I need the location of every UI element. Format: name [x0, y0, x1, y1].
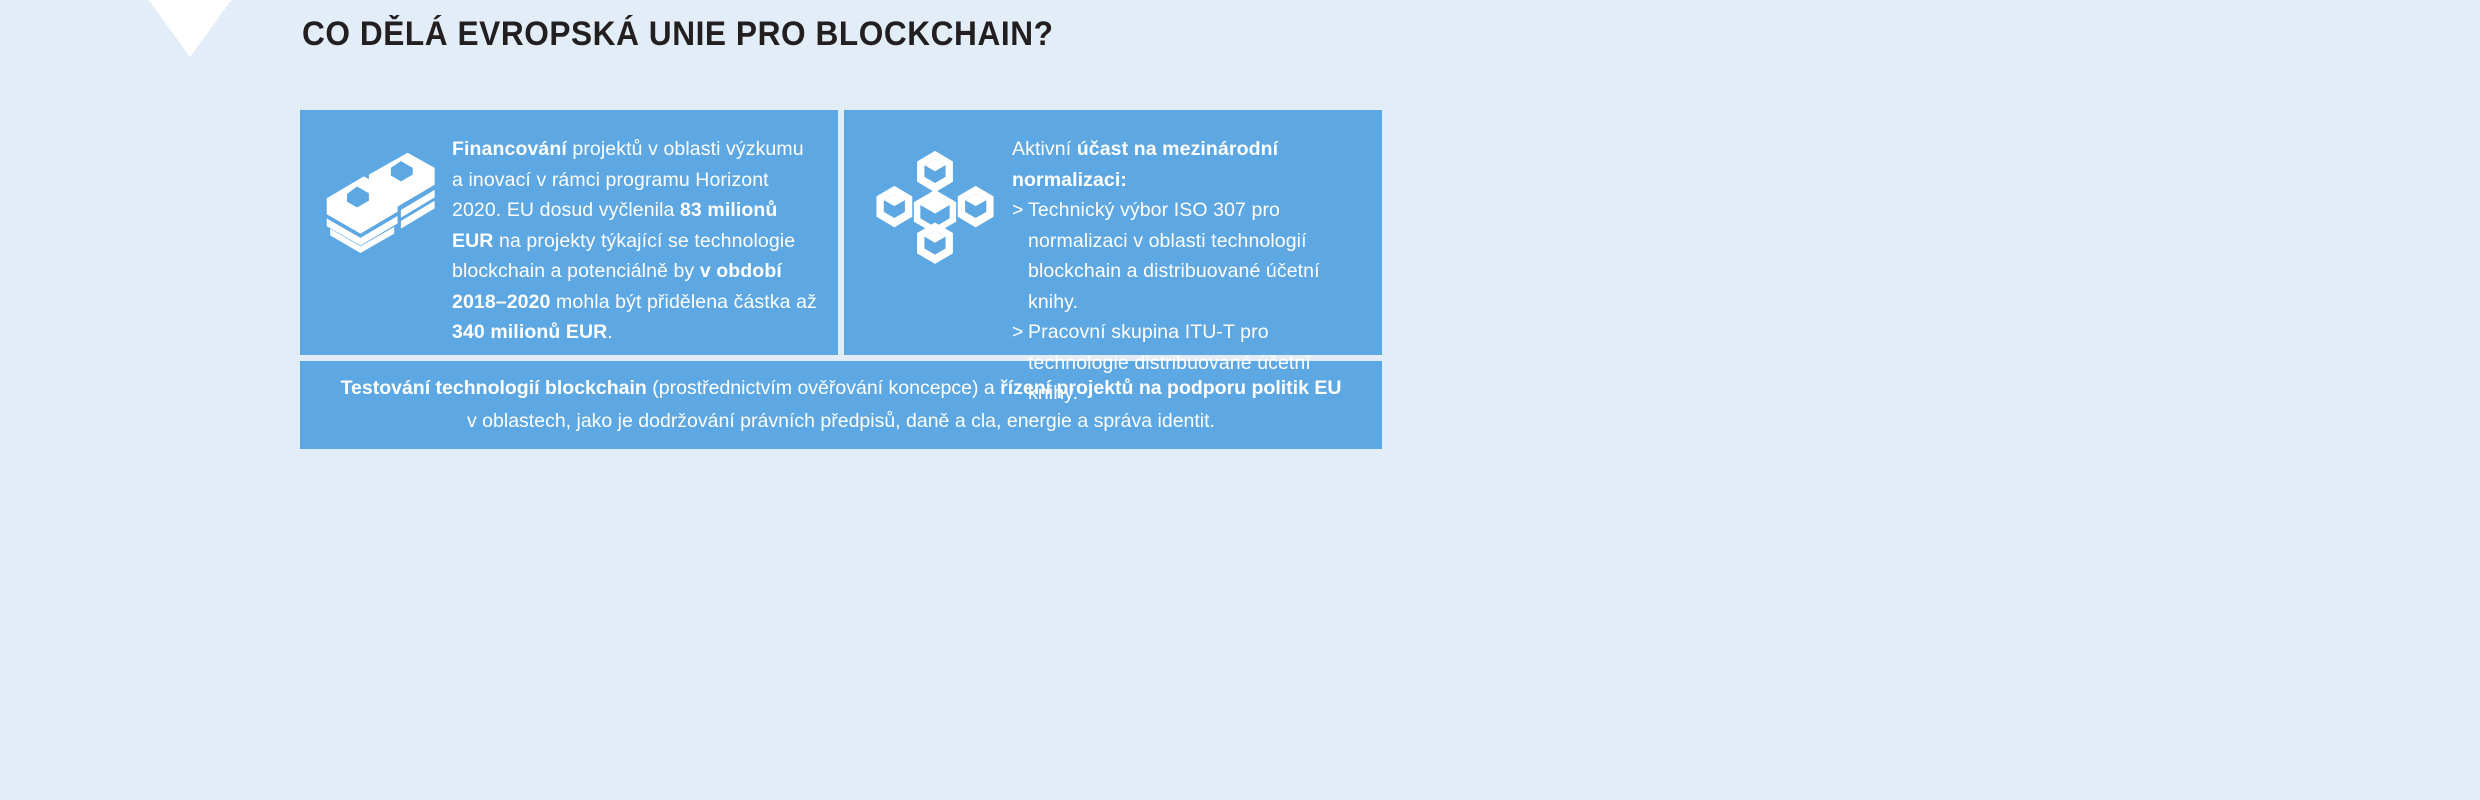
- bullet-text: Technický výbor ISO 307 pro normalizaci …: [1028, 195, 1360, 317]
- standardisation-heading: Aktivní účast na mezinárodní normalizaci…: [1012, 134, 1360, 195]
- chevron-right-icon: >: [1012, 317, 1028, 348]
- testing-seg-1: (prostřednictvím ověřování koncepce) a: [647, 377, 1000, 399]
- list-item: > Technický výbor ISO 307 pro normalizac…: [1012, 195, 1360, 317]
- corner-notch-triangle-icon: [148, 0, 232, 57]
- funding-seg-7: .: [607, 321, 613, 343]
- card-testing-text: Testování technologií blockchain (prostř…: [334, 372, 1349, 438]
- blockchain-network-icon: [870, 132, 996, 268]
- testing-seg-3: v oblastech, jako je dodržování právních…: [467, 410, 1215, 432]
- testing-seg-0: Testování technologií blockchain: [341, 377, 647, 399]
- std-head-seg-0: Aktivní: [1012, 138, 1077, 160]
- std-head-seg-2: :: [1120, 169, 1127, 191]
- funding-seg-5: mohla být přidělena částka až: [551, 291, 817, 313]
- cards-container: Financování projektů v oblasti výzkumu a…: [300, 110, 1382, 449]
- banknote-stack-icon: [320, 132, 438, 254]
- testing-seg-2: řízení projektů na podporu politik EU: [1000, 377, 1341, 399]
- funding-seg-6: 340 milionů EUR: [452, 321, 607, 343]
- card-funding-text: Financování projektů v oblasti výzkumu a…: [438, 132, 820, 348]
- page-title: CO DĚLÁ EVROPSKÁ UNIE PRO BLOCKCHAIN?: [302, 15, 1053, 54]
- card-funding: Financování projektů v oblasti výzkumu a…: [300, 110, 838, 355]
- card-standardisation: Aktivní účast na mezinárodní normalizaci…: [844, 110, 1382, 355]
- card-testing: Testování technologií blockchain (prostř…: [300, 361, 1382, 449]
- card-standardisation-text: Aktivní účast na mezinárodní normalizaci…: [996, 132, 1360, 409]
- chevron-right-icon: >: [1012, 195, 1028, 226]
- cards-top-row: Financování projektů v oblasti výzkumu a…: [300, 110, 1382, 355]
- funding-seg-0: Financování: [452, 138, 567, 160]
